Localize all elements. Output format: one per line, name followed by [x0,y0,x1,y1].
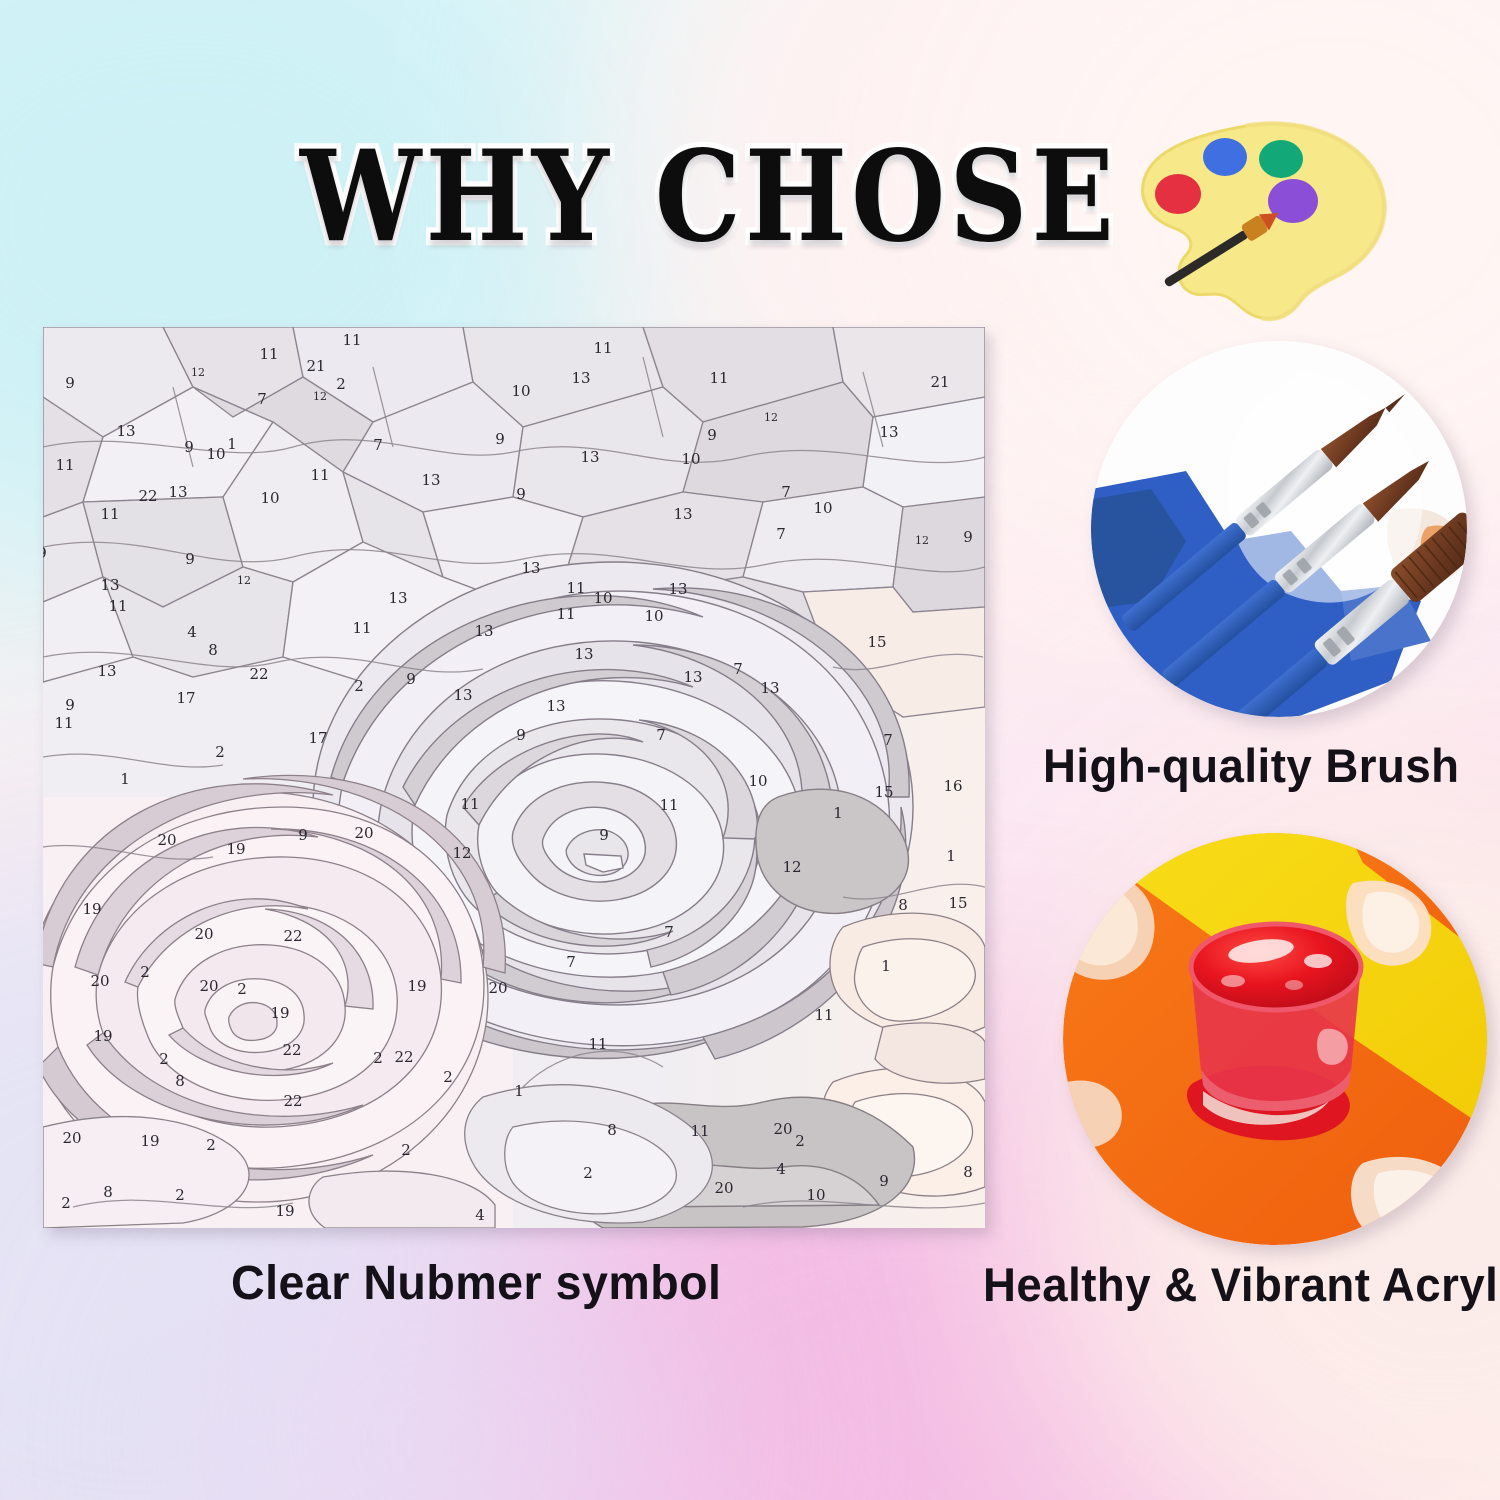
region-number: 22 [282,1041,301,1059]
region-number: 10 [206,445,225,463]
region-number: 19 [270,1004,289,1022]
region-number: 2 [61,1194,71,1212]
region-number: 22 [249,665,268,683]
product-infographic: WHY CHOSE [0,0,1500,1500]
caption-brush: High-quality Brush [1043,738,1460,793]
region-number: 1 [946,847,956,865]
region-number: 11 [460,795,479,813]
paint-by-numbers-artwork: 9111112212127101311112112139101791310913… [43,327,985,1228]
region-number: 2 [215,743,225,761]
region-number: 13 [100,576,119,594]
region-number: 13 [760,679,779,697]
region-number: 11 [814,1006,833,1024]
region-number: 2 [159,1050,169,1068]
region-number: 19 [140,1132,159,1150]
region-number: 2 [336,375,346,393]
region-number: 20 [194,925,213,943]
region-number: 20 [714,1179,733,1197]
red-acrylic-paint-pot-photo [1063,833,1487,1245]
region-number: 11 [342,331,361,349]
region-number: 12 [191,366,205,379]
region-number: 13 [668,580,687,598]
region-number: 8 [103,1183,113,1201]
header: WHY CHOSE [0,60,1500,270]
region-number: 20 [199,977,218,995]
region-number: 13 [168,483,187,501]
region-number: 11 [259,345,278,363]
region-number: 7 [776,525,786,543]
region-number: 7 [664,923,674,941]
region-number: 12 [313,390,327,403]
region-number: 2 [206,1136,216,1154]
region-number: 2 [373,1049,383,1067]
paint-by-numbers-canvas: 9111112212127101311112112139101791310913… [43,327,985,1228]
region-number: 2 [354,677,364,695]
region-number: 15 [948,894,967,912]
region-number: 11 [593,339,612,357]
region-number: 9 [516,726,526,744]
page-title: WHY CHOSE [300,134,1177,259]
region-number: 22 [138,487,157,505]
region-number: 10 [681,450,700,468]
region-number: 13 [571,369,590,387]
region-number: 11 [588,1035,607,1053]
region-number: 15 [874,783,893,801]
region-number: 10 [511,382,530,400]
region-number: 9 [185,550,195,568]
region-number: 10 [260,489,279,507]
region-number: 12 [764,411,778,424]
region-number: 9 [65,696,75,714]
region-number: 20 [90,972,109,990]
region-number: 19 [82,900,101,918]
caption-acrylic: Healthy & Vibrant Acrylic [983,1257,1500,1312]
region-number: 7 [373,436,383,454]
region-number: 17 [308,729,327,747]
region-number: 10 [748,772,767,790]
region-number: 8 [208,641,218,659]
region-number: 20 [354,824,373,842]
region-number: 9 [879,1172,889,1190]
feature-image-brush [1091,341,1467,717]
region-number: 20 [62,1129,81,1147]
region-number: 10 [593,589,612,607]
region-number: 1 [120,770,130,788]
region-number: 7 [883,731,893,749]
region-number: 10 [813,499,832,517]
region-number: 13 [453,686,472,704]
region-number: 13 [521,559,540,577]
region-number: 7 [781,483,791,501]
region-number: 11 [100,505,119,523]
region-number: 9 [599,826,609,844]
region-number: 2 [795,1132,805,1150]
region-number: 13 [673,505,692,523]
region-number: 7 [257,390,267,408]
region-number: 7 [733,660,743,678]
region-number: 13 [421,471,440,489]
region-number: 1 [514,1082,524,1100]
region-number: 8 [963,1163,973,1181]
region-number: 13 [574,645,593,663]
region-number: 21 [930,373,949,391]
region-number: 9 [184,438,194,456]
region-number: 4 [475,1206,485,1224]
region-number: 19 [275,1202,294,1220]
region-number: 9 [516,485,526,503]
paint-brushes-photo [1091,341,1467,717]
region-number: 1 [227,435,237,453]
region-number: 11 [352,619,371,637]
region-number: 8 [607,1121,617,1139]
region-number: 22 [394,1048,413,1066]
region-number: 11 [310,466,329,484]
region-number: 11 [709,369,728,387]
region-number: 13 [116,422,135,440]
region-number: 10 [644,607,663,625]
region-number: 13 [474,622,493,640]
region-number: 11 [54,714,73,732]
region-number: 10 [806,1186,825,1204]
region-number: 7 [656,726,666,744]
region-number: 22 [283,927,302,945]
region-number: 16 [943,777,962,795]
artist-palette-icon [1128,118,1390,328]
region-number: 9 [707,426,717,444]
region-number: 20 [488,979,507,997]
region-number: 2 [175,1186,185,1204]
region-number: 22 [283,1092,302,1110]
region-number: 20 [157,831,176,849]
feature-image-acrylic [1063,833,1487,1245]
region-number: 1 [833,804,843,822]
region-number: 4 [776,1160,786,1178]
region-number: 9 [495,430,505,448]
region-number: 13 [546,697,565,715]
region-number: 2 [583,1164,593,1182]
region-number: 2 [401,1141,411,1159]
region-number: 2 [443,1068,453,1086]
region-number: 21 [306,357,325,375]
region-number: 13 [388,589,407,607]
region-number: 17 [176,689,195,707]
region-number: 13 [97,662,116,680]
region-number: 12 [237,574,251,587]
region-number: 12 [452,844,471,862]
region-number: 9 [43,544,47,562]
region-number: 11 [108,597,127,615]
region-number: 19 [226,840,245,858]
region-number: 9 [963,528,973,546]
region-number: 8 [898,896,908,914]
region-number: 9 [406,670,416,688]
region-number: 11 [556,605,575,623]
caption-canvas: Clear Nubmer symbol [231,1256,721,1311]
region-number: 19 [407,977,426,995]
region-number: 13 [879,423,898,441]
region-number: 12 [915,534,929,547]
region-number: 11 [55,456,74,474]
region-number: 4 [187,623,197,641]
region-number: 9 [65,374,75,392]
region-number: 8 [175,1072,185,1090]
region-number: 11 [690,1122,709,1140]
region-number: 13 [683,668,702,686]
region-number: 2 [237,980,247,998]
region-number: 9 [298,826,308,844]
region-number: 1 [881,957,891,975]
region-number: 11 [659,796,678,814]
region-number: 20 [773,1120,792,1138]
region-number: 15 [867,633,886,651]
region-number: 19 [93,1027,112,1045]
region-number: 2 [140,963,150,981]
region-number: 13 [580,448,599,466]
region-number: 7 [566,953,576,971]
region-number: 11 [566,579,585,597]
region-number: 12 [782,858,801,876]
